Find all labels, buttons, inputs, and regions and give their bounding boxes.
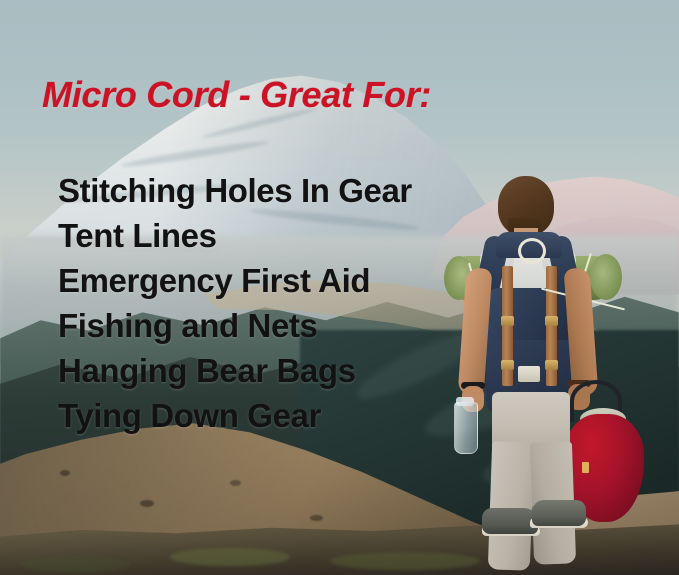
list-item: Fishing and Nets: [58, 303, 488, 348]
list-item: Tent Lines: [58, 213, 488, 258]
rock-speckle: [60, 470, 70, 476]
moss-patch: [20, 556, 130, 572]
list-item: Stitching Holes In Gear: [58, 168, 488, 213]
shoe-right: [532, 500, 586, 526]
pant-leg-left: [488, 441, 534, 570]
stuff-sack-tag: [582, 462, 589, 473]
rock-speckle: [230, 480, 241, 486]
product-marketing-graphic: Micro Cord - Great For: Stitching Holes …: [0, 0, 679, 575]
list-item: Emergency First Aid: [58, 258, 488, 303]
headline-title: Micro Cord - Great For:: [42, 74, 431, 116]
pack-haul-loop: [518, 238, 546, 264]
backpack-buckle-left-upper: [501, 316, 514, 326]
rock-speckle: [310, 515, 323, 521]
benefit-list: Stitching Holes In Gear Tent Lines Emerg…: [58, 168, 488, 438]
backpack-logo-patch: [518, 366, 540, 382]
list-item: Tying Down Gear: [58, 393, 488, 438]
sleeping-pad-end-right: [590, 254, 622, 300]
moss-patch: [170, 548, 290, 566]
backpack-buckle-right-lower: [545, 360, 558, 370]
rock-speckle: [140, 500, 154, 507]
backpack-buckle-right-upper: [545, 316, 558, 326]
list-item: Hanging Bear Bags: [58, 348, 488, 393]
backpack-buckle-left-lower: [501, 360, 514, 370]
